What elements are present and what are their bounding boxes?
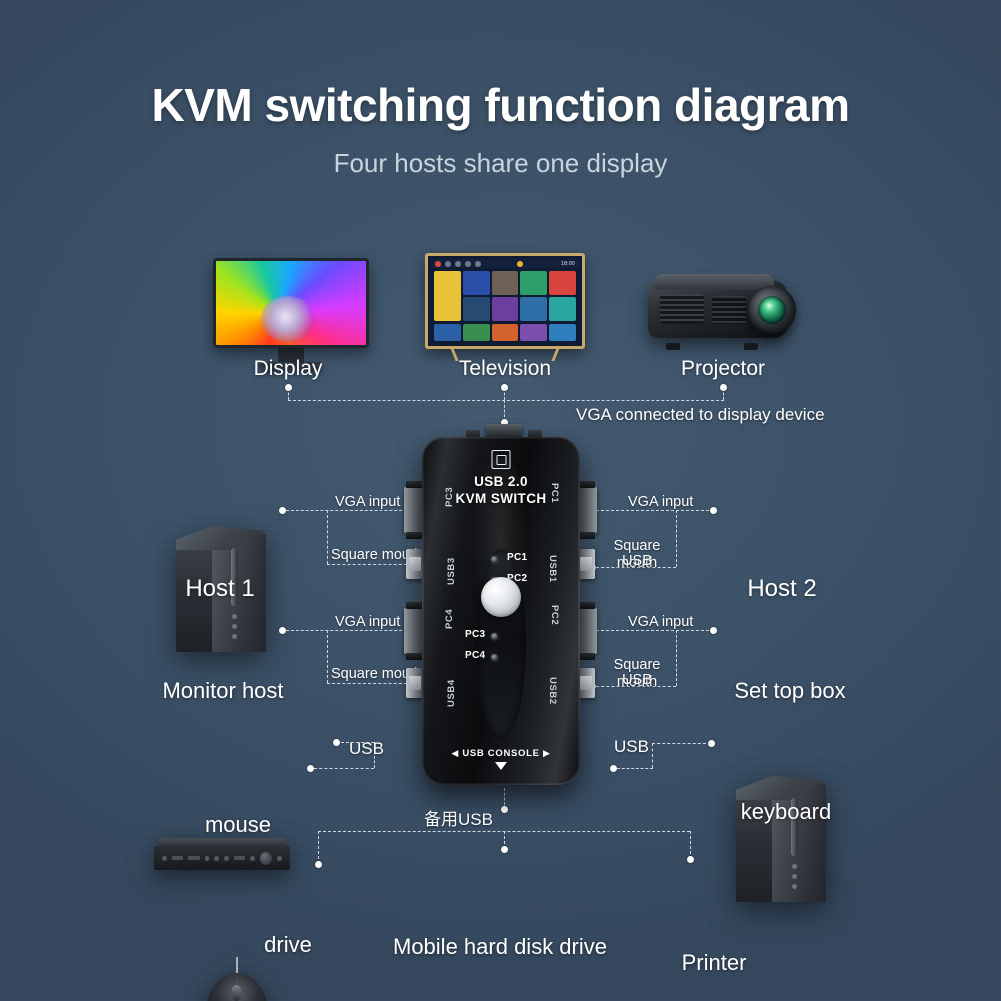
connector-monitorhost-usb-line xyxy=(327,683,412,684)
kvm-label-pc2: PC2 xyxy=(549,605,560,625)
device-television: 18:00 xyxy=(425,253,585,360)
kvm-label-usb2: USB2 xyxy=(547,677,558,705)
label-stb-square-mouth-usb-line2: USB xyxy=(597,672,677,689)
connector-node-keyboard-usb xyxy=(610,765,617,772)
device-label-printer: Printer xyxy=(652,950,776,976)
device-label-mobile-hard-disk: Mobile hard disk drive xyxy=(378,934,622,960)
label-host2-vga-input: VGA input xyxy=(628,494,693,510)
device-label-usb-flash-drive: drive xyxy=(238,932,338,958)
connector-host2-vga-line xyxy=(596,510,714,511)
connector-node-usb-drive xyxy=(315,861,322,868)
kvm-select-button[interactable] xyxy=(481,577,521,617)
connector-node-spare-usb-top xyxy=(501,806,508,813)
kvm-label-pc3: PC3 xyxy=(444,487,455,507)
kvm-led-label-pc4: PC4 xyxy=(465,650,485,661)
device-label-projector: Projector xyxy=(648,357,798,381)
connector-node-mouse-usb xyxy=(333,739,340,746)
label-mouse-usb: USB xyxy=(349,739,384,759)
connector-mouse-line xyxy=(314,768,374,769)
kvm-label-usb3: USB3 xyxy=(446,557,457,585)
console-label: USB CONSOLE xyxy=(462,748,539,759)
connector-drop-projector xyxy=(723,388,724,400)
tv-app-grid xyxy=(431,268,579,324)
connector-host1-usb-drop xyxy=(327,510,328,564)
kvm-label-usb4: USB4 xyxy=(446,679,457,707)
tv-status-bar: 18:00 xyxy=(431,259,579,268)
label-host1-vga-input: VGA input xyxy=(335,494,400,510)
kvm-label-pc1: PC1 xyxy=(549,483,560,503)
vga-display-bus xyxy=(288,400,724,401)
console-right-arrow-icon: ▶ xyxy=(543,748,551,758)
device-label-keyboard: keyboard xyxy=(718,799,854,825)
device-host-2 xyxy=(736,776,828,902)
device-label-television: Television xyxy=(425,357,585,381)
kvm-led-label-pc3: PC3 xyxy=(465,629,485,640)
usb-icon xyxy=(492,450,511,469)
device-projector xyxy=(648,272,798,350)
label-host2-square-mouth-usb-line2: USB xyxy=(597,553,677,570)
device-monitor-host xyxy=(154,838,290,876)
connector-host1-vga-line xyxy=(286,510,412,511)
device-label-host-1: Host 1 xyxy=(150,575,290,603)
connector-keyboard-bottom xyxy=(617,768,653,769)
label-stb-vga-input: VGA input xyxy=(628,614,693,630)
page-title: KVM switching function diagram xyxy=(0,78,1001,132)
kvm-shell: USB 2.0 KVM SWITCH PC3 USB3 PC4 USB4 PC1… xyxy=(422,437,580,785)
connector-node-host1-vga xyxy=(279,507,286,514)
label-vga-connected-to-display: VGA connected to display device xyxy=(576,405,825,425)
television-screen: 18:00 xyxy=(425,253,585,349)
device-label-monitor-host: Monitor host xyxy=(140,678,306,704)
diagram-canvas: KVM switching function diagram Four host… xyxy=(0,0,1001,1001)
connector-node-printer xyxy=(687,856,694,863)
label-spare-usb: 备用USB xyxy=(424,805,493,830)
connector-drop-display xyxy=(288,388,289,400)
device-label-display: Display xyxy=(213,357,363,381)
connector-stb-vga-line xyxy=(596,630,714,631)
connector-monitorhost-vga-line xyxy=(286,630,412,631)
page-subtitle: Four hosts share one display xyxy=(0,148,1001,179)
connector-node-host2-vga xyxy=(710,507,717,514)
spare-usb-left-drop xyxy=(318,831,319,864)
console-left-arrow-icon: ◀ xyxy=(451,748,459,758)
kvm-led-pc1 xyxy=(491,556,498,563)
kvm-led-pc3 xyxy=(491,633,498,640)
label-monitorhost-vga-input: VGA input xyxy=(335,614,400,630)
display-screen xyxy=(213,258,369,348)
kvm-console-text: ◀ USB CONSOLE ▶ xyxy=(422,748,580,759)
kvm-label-pc4: PC4 xyxy=(444,609,455,629)
connector-monitorhost-usb-drop xyxy=(327,630,328,683)
connector-keyboard-line xyxy=(652,743,711,744)
device-mouse xyxy=(206,969,268,1001)
console-down-arrow-icon xyxy=(495,762,507,770)
label-keyboard-usb: USB xyxy=(614,737,649,757)
kvm-label-usb1: USB1 xyxy=(547,555,558,583)
connector-node-stb-vga xyxy=(710,627,717,634)
kvm-switch-device[interactable]: USB 2.0 KVM SWITCH PC3 USB3 PC4 USB4 PC1… xyxy=(422,437,580,785)
device-label-mouse: mouse xyxy=(178,812,298,838)
device-label-host-2: Host 2 xyxy=(712,575,852,603)
connector-node-monitorhost-vga xyxy=(279,627,286,634)
kvm-led-label-pc1: PC1 xyxy=(507,552,527,563)
device-display xyxy=(213,258,369,369)
connector-node-mouse xyxy=(307,765,314,772)
spare-usb-right-drop xyxy=(690,831,691,859)
tv-shortcut-row xyxy=(431,324,579,341)
connector-host1-usb-line xyxy=(327,564,412,565)
device-label-set-top-box: Set top box xyxy=(700,678,880,704)
connector-drop-television xyxy=(504,388,505,400)
connector-keyboard-riser xyxy=(652,743,653,768)
connector-node-hdd xyxy=(501,846,508,853)
kvm-led-pc4 xyxy=(491,654,498,661)
